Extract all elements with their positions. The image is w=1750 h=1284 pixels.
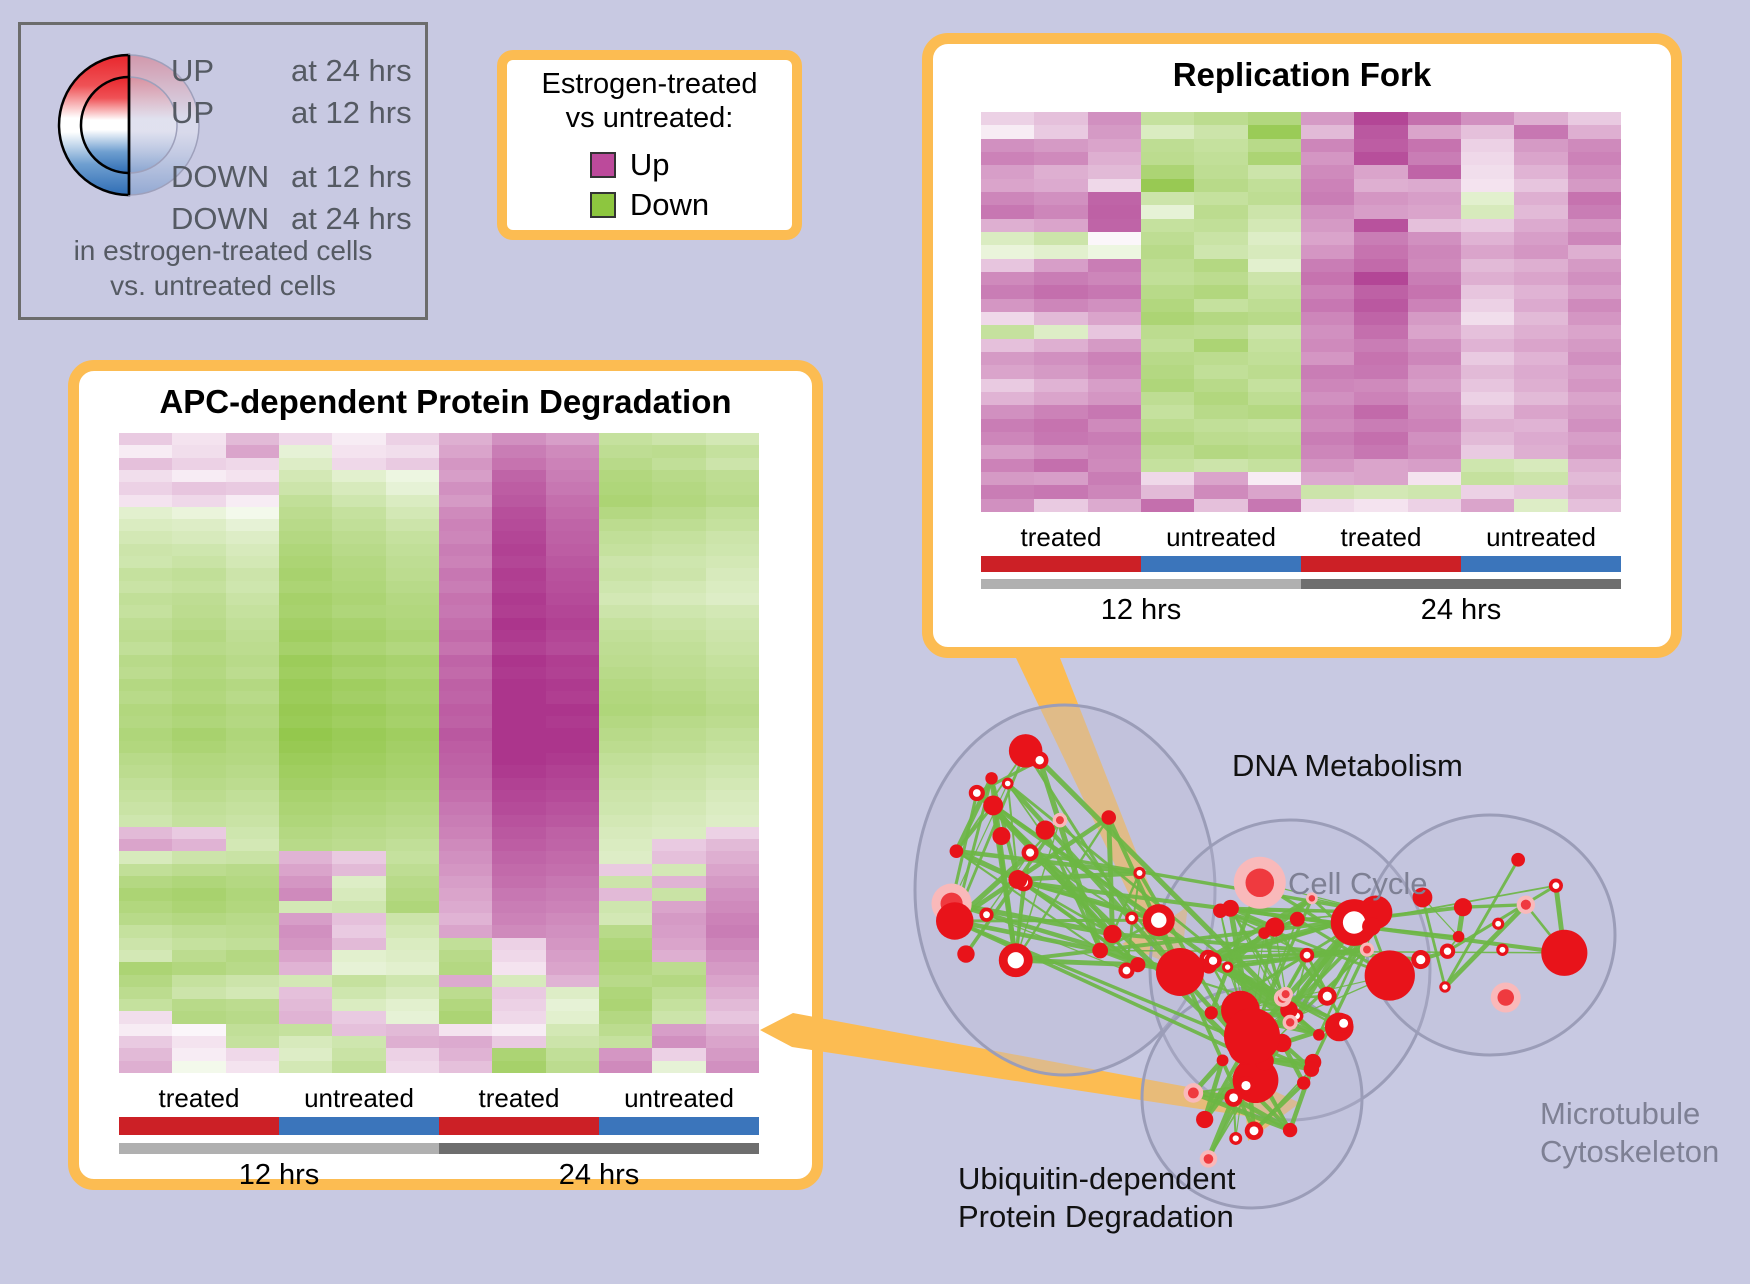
- heatmap-cell: [1514, 352, 1567, 365]
- heatmap-cell: [172, 716, 225, 728]
- network-node[interactable]: [1022, 844, 1039, 861]
- heatmap-cell: [332, 741, 385, 753]
- heatmap-cell: [1248, 299, 1301, 312]
- heatmap-cell: [439, 1061, 492, 1073]
- network-node[interactable]: [1439, 981, 1450, 992]
- heatmap-cell: [1354, 125, 1407, 138]
- heatmap-cell: [119, 704, 172, 716]
- heatmap-cell: [706, 691, 759, 703]
- network-node[interactable]: [950, 844, 964, 858]
- heatmap-cell: [546, 642, 599, 654]
- network-node[interactable]: [1053, 813, 1068, 828]
- heatmap-cell: [386, 802, 439, 814]
- heatmap-cell: [172, 445, 225, 457]
- heatmap-cell: [546, 950, 599, 962]
- heatmap-cell: [119, 778, 172, 790]
- heatmap-cell: [599, 728, 652, 740]
- network-node[interactable]: [992, 827, 1010, 845]
- network-node[interactable]: [1362, 917, 1381, 936]
- heatmap-cell: [119, 827, 172, 839]
- heatmap-cell: [1461, 499, 1514, 512]
- network-node[interactable]: [1453, 931, 1465, 943]
- network-node[interactable]: [1224, 1008, 1280, 1064]
- heatmap-cell: [332, 618, 385, 630]
- heatmap-cell: [599, 691, 652, 703]
- heatmap-cell: [279, 445, 332, 457]
- heatmap-cell: [1088, 312, 1141, 325]
- heatmap-cell: [652, 876, 705, 888]
- heatmap-cell: [599, 753, 652, 765]
- bar-treated: [1301, 556, 1461, 572]
- heatmap-cell: [386, 605, 439, 617]
- heatmap-cell: [172, 1024, 225, 1036]
- heatmap-cell: [652, 495, 705, 507]
- heatmap-cell: [1514, 219, 1567, 232]
- heatmap-cell: [546, 913, 599, 925]
- heatmap-cell: [1248, 259, 1301, 272]
- network-node[interactable]: [1101, 810, 1116, 825]
- heatmap-cell: [1408, 205, 1461, 218]
- network-node[interactable]: [1360, 942, 1374, 956]
- network-node[interactable]: [1125, 911, 1138, 924]
- network-node[interactable]: [1002, 778, 1014, 790]
- heatmap-cell: [546, 802, 599, 814]
- heatmap-cell: [652, 987, 705, 999]
- heatmap-cell: [546, 741, 599, 753]
- heatmap-cell: [386, 753, 439, 765]
- network-node[interactable]: [1143, 904, 1175, 936]
- heatmap-cell: [1034, 232, 1087, 245]
- heatmap-cell: [386, 445, 439, 457]
- heatmap-cell: [1141, 352, 1194, 365]
- heatmap-cell: [1088, 379, 1141, 392]
- heatmap-cell: [1408, 379, 1461, 392]
- heatmap-cell: [1461, 272, 1514, 285]
- heatmap-cell: [226, 901, 279, 913]
- heatmap-cell: [172, 630, 225, 642]
- heatmap-cell: [279, 667, 332, 679]
- heatmap-cell: [1248, 152, 1301, 165]
- heatmap-cell: [1248, 232, 1301, 245]
- heatmap-cell: [172, 999, 225, 1011]
- heatmap-cell: [546, 482, 599, 494]
- heatmap-cell: [652, 938, 705, 950]
- heatmap-cell: [226, 618, 279, 630]
- heatmap-cell: [492, 999, 545, 1011]
- network-node[interactable]: [1365, 950, 1415, 1000]
- heatmap-cell: [1088, 245, 1141, 258]
- heatmap-cell: [439, 630, 492, 642]
- heatmap-cell: [1301, 205, 1354, 218]
- network-node[interactable]: [1265, 918, 1284, 937]
- heatmap-cell: [439, 1011, 492, 1023]
- heatmap-cell: [172, 728, 225, 740]
- heatmap-cell: [652, 458, 705, 470]
- network-node[interactable]: [1496, 944, 1508, 956]
- heatmap-cell: [1301, 259, 1354, 272]
- network-node[interactable]: [983, 796, 1003, 816]
- heatmap-cell: [1301, 419, 1354, 432]
- heatmap-cell: [1194, 272, 1247, 285]
- heatmap-cell: [1141, 392, 1194, 405]
- heatmap-cell: [439, 938, 492, 950]
- network-node[interactable]: [1092, 943, 1108, 959]
- heatmap-cell: [1354, 179, 1407, 192]
- heatmap-cell: [386, 950, 439, 962]
- network-node[interactable]: [1031, 751, 1049, 769]
- heatmap-cell: [1034, 125, 1087, 138]
- heatmap-cell: [706, 962, 759, 974]
- heatmap-cell: [226, 728, 279, 740]
- network-node[interactable]: [1184, 1083, 1204, 1103]
- heatmap-cell: [1088, 219, 1141, 232]
- heatmap-cell: [1194, 192, 1247, 205]
- heatmap-cell: [1354, 285, 1407, 298]
- heatmap-cell: [119, 815, 172, 827]
- heatmap-cell: [546, 716, 599, 728]
- heatmap-cell: [652, 851, 705, 863]
- network-node[interactable]: [1217, 1054, 1229, 1066]
- network-node[interactable]: [979, 908, 993, 922]
- heatmap-cell: [439, 445, 492, 457]
- network-node[interactable]: [1278, 987, 1293, 1002]
- heatmap-cell: [386, 1061, 439, 1073]
- heatmap-cell: [706, 679, 759, 691]
- heatmap-cell: [1088, 125, 1141, 138]
- heatmap-cell: [1248, 499, 1301, 512]
- heatmap-cell: [439, 593, 492, 605]
- circle-key-label: UP: [171, 95, 291, 131]
- heatmap-cell: [172, 655, 225, 667]
- heatmap-cell: [332, 630, 385, 642]
- heatmap-cell: [652, 568, 705, 580]
- heatmap-cell: [652, 482, 705, 494]
- network-node[interactable]: [1334, 1014, 1353, 1033]
- heatmap-cell: [226, 679, 279, 691]
- heatmap-cell: [386, 975, 439, 987]
- heatmap-cell: [226, 1061, 279, 1073]
- heatmap-cell: [492, 519, 545, 531]
- network-node[interactable]: [1204, 952, 1221, 969]
- heatmap-cell: [652, 667, 705, 679]
- heatmap-cell: [1408, 139, 1461, 152]
- heatmap-cell: [492, 753, 545, 765]
- heatmap-cell: [386, 433, 439, 445]
- heatmap-cell: [1301, 139, 1354, 152]
- heatmap-cell: [1354, 112, 1407, 125]
- heatmap-cell: [599, 581, 652, 593]
- heatmap-cell: [652, 815, 705, 827]
- heatmap-cell: [546, 519, 599, 531]
- network-node[interactable]: [1036, 820, 1055, 839]
- heatmap-cell: [706, 470, 759, 482]
- heatmap-cell: [1034, 219, 1087, 232]
- heatmap-cell: [279, 679, 332, 691]
- heatmap-cell: [226, 593, 279, 605]
- heatmap-cell: [386, 962, 439, 974]
- heatmap-cell: [226, 433, 279, 445]
- network-node[interactable]: [1234, 857, 1286, 909]
- heatmap-cell: [1248, 139, 1301, 152]
- heatmap-cell: [1141, 152, 1194, 165]
- network-node[interactable]: [999, 943, 1033, 977]
- heatmap-cell: [386, 827, 439, 839]
- heatmap-cell: [279, 655, 332, 667]
- heatmap-cell: [1194, 445, 1247, 458]
- heatmap-cell: [546, 605, 599, 617]
- network-node[interactable]: [1491, 982, 1521, 1012]
- heatmap-cell: [706, 630, 759, 642]
- heatmap-cell: [439, 691, 492, 703]
- heatmap-cell: [546, 901, 599, 913]
- heatmap-cell: [981, 139, 1034, 152]
- heatmap-cell: [1568, 245, 1621, 258]
- heatmap-cell: [172, 482, 225, 494]
- heatmap-cell: [652, 802, 705, 814]
- network-node[interactable]: [1411, 950, 1430, 969]
- group-label: untreated: [1461, 522, 1621, 553]
- network-node[interactable]: [957, 945, 974, 962]
- network-node[interactable]: [1440, 943, 1455, 958]
- heatmap-cell: [172, 753, 225, 765]
- heatmap-cell: [706, 839, 759, 851]
- heatmap-cell: [119, 507, 172, 519]
- heatmap-cell: [332, 544, 385, 556]
- heatmap-cell: [706, 888, 759, 900]
- network-node[interactable]: [1454, 898, 1472, 916]
- network-node[interactable]: [985, 772, 997, 784]
- heatmap-cell: [119, 655, 172, 667]
- network-node[interactable]: [1222, 962, 1233, 973]
- heatmap-apc-degradation: [119, 433, 759, 1073]
- heatmap-cell: [332, 655, 385, 667]
- heatmap-cell: [279, 618, 332, 630]
- heatmap-cell: [1141, 272, 1194, 285]
- network-node[interactable]: [936, 902, 973, 939]
- cluster-label-microtubule-cytoskeleton: Microtubule Cytoskeleton: [1540, 1095, 1719, 1171]
- heatmap-cell: [332, 888, 385, 900]
- heatmap-cell: [492, 507, 545, 519]
- circle-key-rows: UP at 24 hrs UP at 12 hrs DOWN at 12 hrs…: [171, 53, 421, 243]
- network-node[interactable]: [1511, 853, 1525, 867]
- heatmap-cell: [492, 790, 545, 802]
- heatmap-cell: [546, 445, 599, 457]
- heatmap-cell: [279, 1024, 332, 1036]
- heatmap-cell: [1568, 112, 1621, 125]
- heatmap-cell: [332, 581, 385, 593]
- network-node[interactable]: [1224, 1089, 1242, 1107]
- heatmap-cell: [119, 482, 172, 494]
- network-node[interactable]: [1283, 1015, 1298, 1030]
- network-node[interactable]: [1156, 948, 1204, 996]
- heatmap-cell: [1408, 485, 1461, 498]
- heatmap-cell: [1354, 459, 1407, 472]
- heatmap-cell: [439, 544, 492, 556]
- heatmap-cell: [652, 593, 705, 605]
- heatmap-cell: [1568, 485, 1621, 498]
- down-color-swatch: [590, 192, 616, 218]
- heatmap-cell: [1514, 285, 1567, 298]
- network-node[interactable]: [1297, 1076, 1310, 1089]
- circle-key-row: UP at 24 hrs: [171, 53, 421, 95]
- network-node[interactable]: [1103, 925, 1121, 943]
- heatmap-cell: [1461, 432, 1514, 445]
- heatmap-cell: [1248, 459, 1301, 472]
- heatmap-cell: [492, 1024, 545, 1036]
- heatmap-cell: [226, 765, 279, 777]
- heatmap-cell: [1408, 459, 1461, 472]
- heatmap-cell: [706, 790, 759, 802]
- heatmap-cell: [1408, 392, 1461, 405]
- heatmap-cell: [652, 605, 705, 617]
- heatmap-cell: [706, 728, 759, 740]
- heatmap-cell: [279, 938, 332, 950]
- heatmap-cell: [439, 987, 492, 999]
- heatmap-cell: [226, 925, 279, 937]
- heatmap-cell: [1301, 299, 1354, 312]
- network-node[interactable]: [1130, 957, 1145, 972]
- network-node[interactable]: [1300, 948, 1315, 963]
- heatmap-cell: [1088, 165, 1141, 178]
- heatmap-cell: [652, 790, 705, 802]
- heatmap-cell: [119, 445, 172, 457]
- heatmap-cell: [492, 1048, 545, 1060]
- heatmap-cell: [386, 458, 439, 470]
- heatmap-cell: [279, 901, 332, 913]
- circle-key-label: UP: [171, 53, 291, 89]
- heatmap-cell: [386, 1011, 439, 1023]
- heatmap-cell: [226, 716, 279, 728]
- heatmap-cell: [1034, 139, 1087, 152]
- heatmap-cell: [492, 913, 545, 925]
- heatmap-cell: [652, 630, 705, 642]
- heatmap-cell: [332, 753, 385, 765]
- heatmap-cell: [546, 593, 599, 605]
- heatmap-cell: [599, 679, 652, 691]
- heatmap-cell: [332, 950, 385, 962]
- heatmap-cell: [1354, 339, 1407, 352]
- heatmap-cell: [546, 1011, 599, 1023]
- network-node[interactable]: [1196, 1111, 1213, 1128]
- heatmap-cell: [1514, 445, 1567, 458]
- network-node[interactable]: [1245, 1122, 1264, 1141]
- heatmap-cell: [1354, 445, 1407, 458]
- heatmap-cell: [386, 938, 439, 950]
- heatmap-cell: [1088, 152, 1141, 165]
- network-node[interactable]: [1213, 903, 1228, 918]
- heatmap-cell: [1141, 365, 1194, 378]
- heatmap-cell: [1408, 285, 1461, 298]
- heatmap-cell: [1301, 352, 1354, 365]
- heatmap-cell: [492, 470, 545, 482]
- group-label: treated: [981, 522, 1141, 553]
- heatmap-cell: [439, 716, 492, 728]
- network-node[interactable]: [1318, 987, 1337, 1006]
- heatmap-cell: [1568, 499, 1621, 512]
- heatmap-cell: [226, 568, 279, 580]
- heatmap-cell: [706, 519, 759, 531]
- circle-key-time: at 12 hrs: [291, 159, 412, 195]
- heatmap-cell: [1301, 445, 1354, 458]
- network-node[interactable]: [1205, 1006, 1218, 1019]
- heatmap-cell: [172, 975, 225, 987]
- heatmap-cell: [546, 975, 599, 987]
- heatmap-cell: [706, 741, 759, 753]
- network-node[interactable]: [1492, 918, 1504, 930]
- heatmap-cell: [119, 802, 172, 814]
- heatmap-cell: [546, 667, 599, 679]
- heatmap-cell: [119, 1011, 172, 1023]
- heatmap-cell: [1408, 179, 1461, 192]
- heatmap-cell: [1354, 419, 1407, 432]
- network-node[interactable]: [1008, 870, 1027, 889]
- heatmap-cell: [706, 815, 759, 827]
- heatmap-cell: [492, 531, 545, 543]
- network-node[interactable]: [1283, 1123, 1297, 1137]
- heatmap-cell: [226, 815, 279, 827]
- heatmap-cell: [1248, 379, 1301, 392]
- heatmap-cell: [706, 531, 759, 543]
- heatmap-cell: [1461, 312, 1514, 325]
- heatmap-cell: [439, 1036, 492, 1048]
- heatmap-cell: [1514, 459, 1567, 472]
- cluster-label-dna-metabolism: DNA Metabolism: [1232, 748, 1463, 784]
- heatmap-cell: [546, 495, 599, 507]
- heatmap-cell: [706, 482, 759, 494]
- heatmap-cell: [332, 679, 385, 691]
- heatmap-cell: [226, 741, 279, 753]
- heatmap-cell: [172, 876, 225, 888]
- heatmap-cell: [981, 192, 1034, 205]
- heatmap-cell: [706, 851, 759, 863]
- heatmap-cell: [492, 851, 545, 863]
- heatmap-cell: [226, 667, 279, 679]
- network-node[interactable]: [969, 785, 985, 801]
- heatmap-cell: [599, 630, 652, 642]
- heatmap-cell: [332, 913, 385, 925]
- network-node[interactable]: [1541, 930, 1587, 976]
- heatmap-cell: [279, 470, 332, 482]
- heatmap-cell: [706, 618, 759, 630]
- network-node[interactable]: [1290, 912, 1305, 927]
- heatmap-cell: [652, 556, 705, 568]
- heatmap-cell: [652, 704, 705, 716]
- heatmap-cell: [439, 531, 492, 543]
- network-node[interactable]: [1517, 896, 1535, 914]
- heatmap-cell: [439, 728, 492, 740]
- heatmap-cell: [226, 691, 279, 703]
- heatmap-cell: [492, 864, 545, 876]
- heatmap-cell: [652, 445, 705, 457]
- network-node[interactable]: [1304, 1061, 1320, 1077]
- heatmap-cell: [706, 938, 759, 950]
- heatmap-cell: [119, 938, 172, 950]
- heatmap-cell: [172, 925, 225, 937]
- heatmap-cell: [1568, 125, 1621, 138]
- network-node[interactable]: [1549, 879, 1563, 893]
- heatmap-cell: [1034, 152, 1087, 165]
- heatmap-cell: [172, 790, 225, 802]
- heatmap-cell: [706, 950, 759, 962]
- heatmap-cell: [1088, 179, 1141, 192]
- heatmap-cell: [1568, 419, 1621, 432]
- network-node[interactable]: [1229, 1132, 1242, 1145]
- time-labels-replication-fork: 12 hrs 24 hrs: [981, 594, 1621, 627]
- network-node[interactable]: [1133, 867, 1145, 879]
- network-node[interactable]: [1313, 1029, 1325, 1041]
- heatmap-cell: [1461, 419, 1514, 432]
- heatmap-cell: [652, 691, 705, 703]
